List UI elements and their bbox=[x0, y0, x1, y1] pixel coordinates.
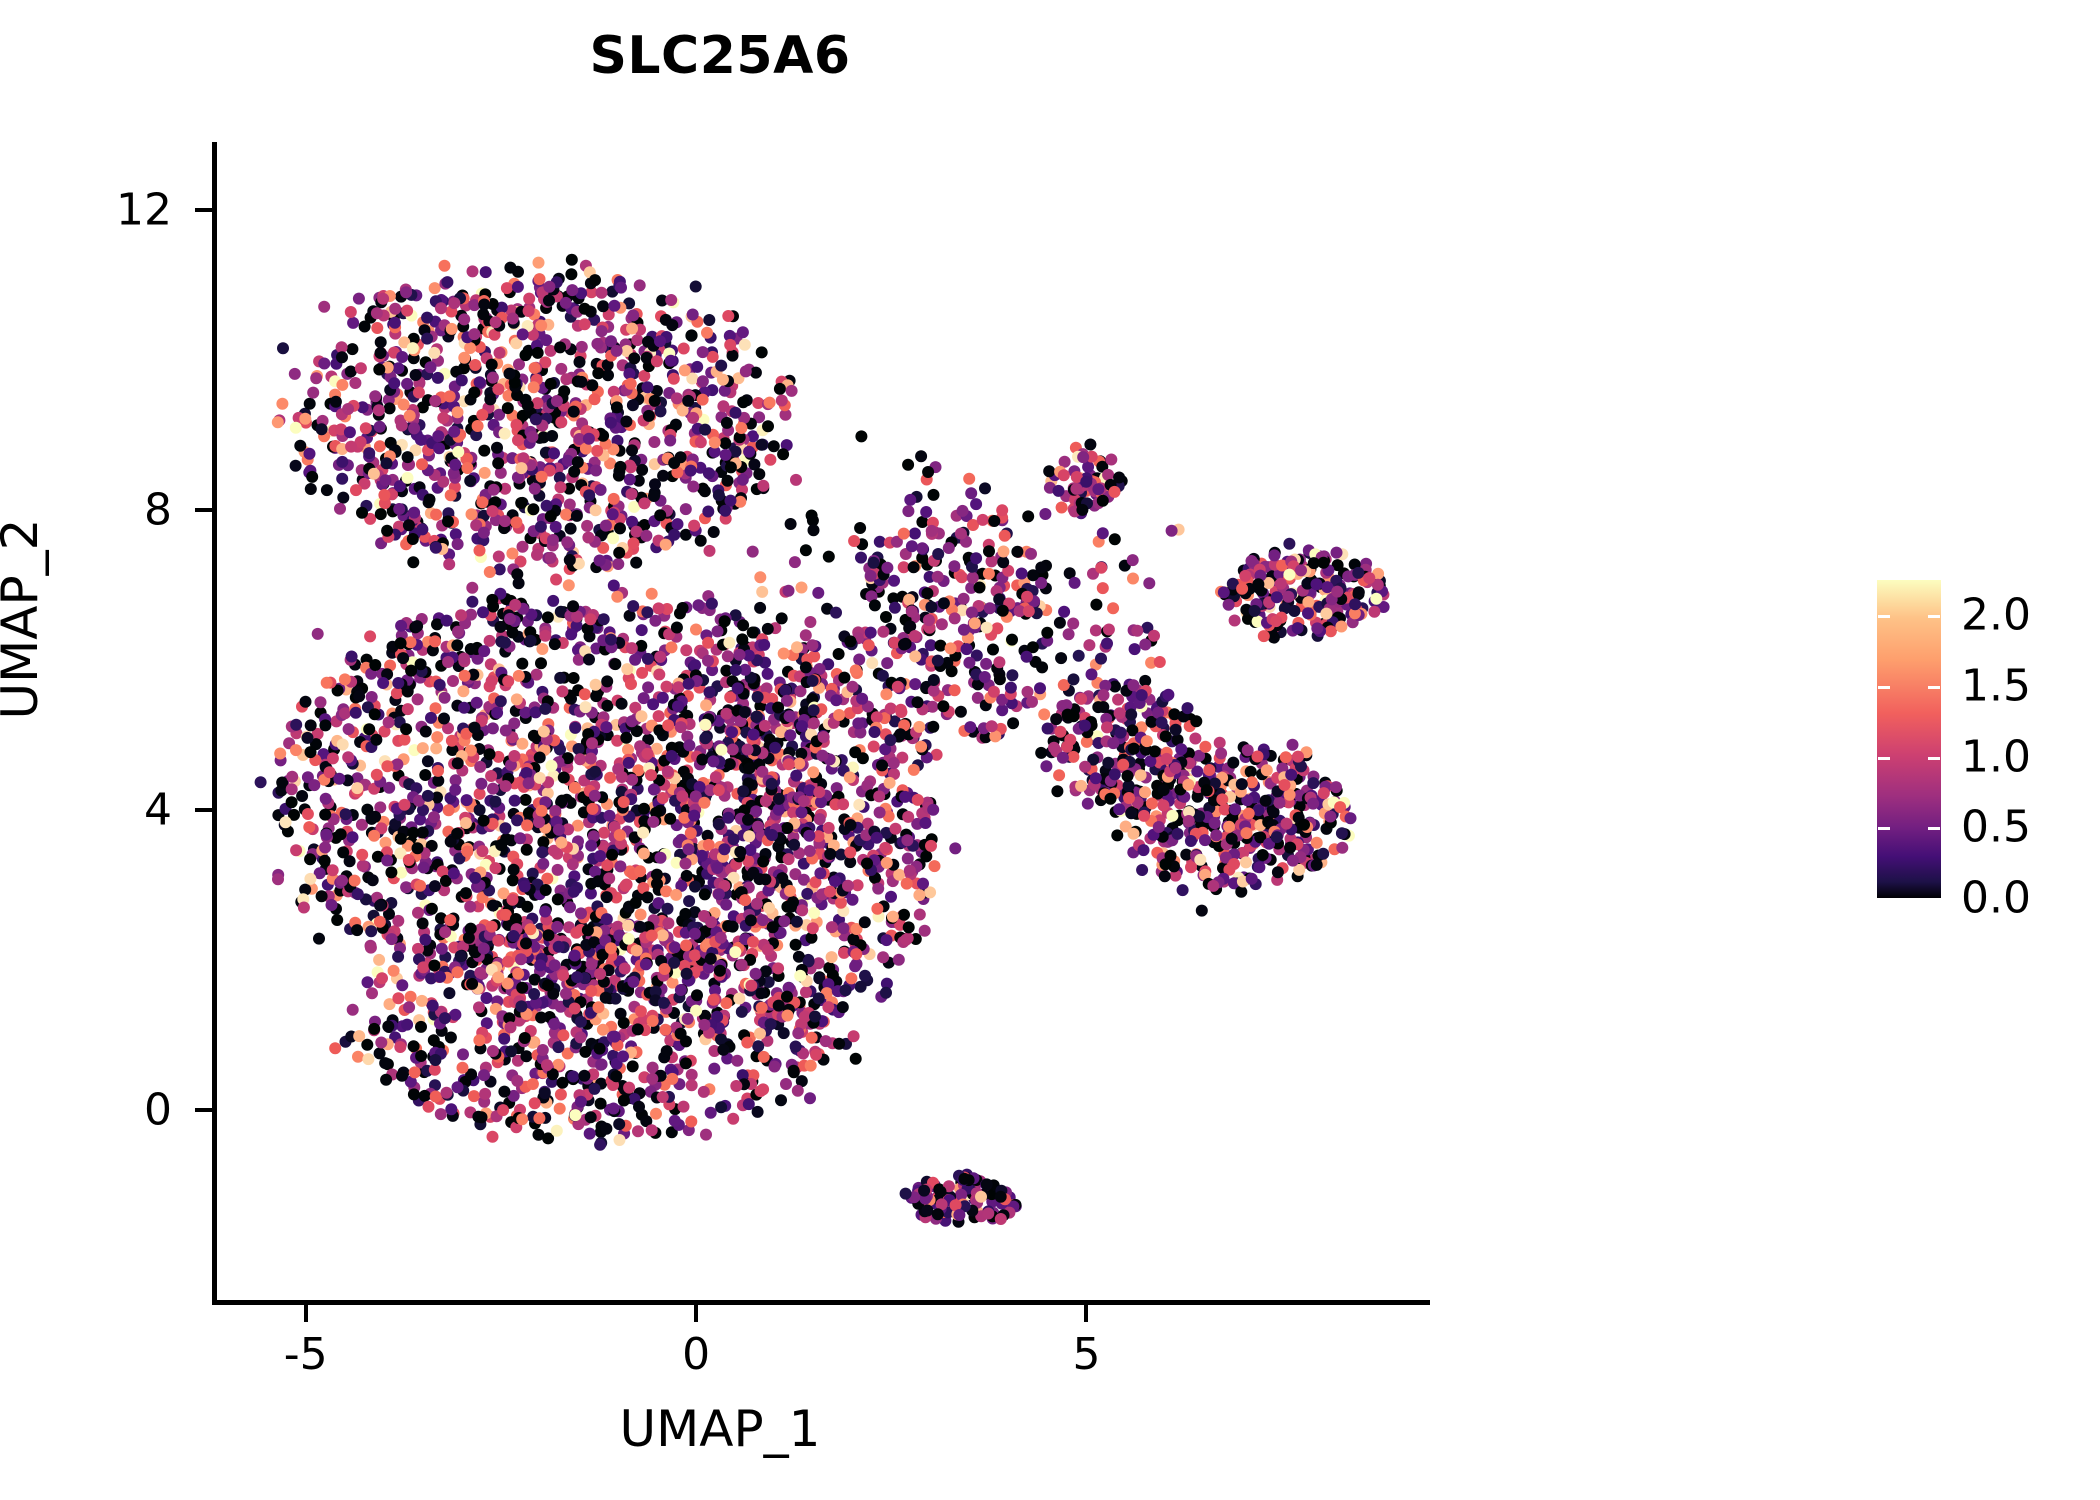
scatter-point bbox=[579, 688, 591, 700]
scatter-point bbox=[678, 343, 690, 355]
scatter-point bbox=[615, 282, 627, 294]
scatter-point bbox=[689, 928, 701, 940]
scatter-point bbox=[513, 577, 525, 589]
scatter-point bbox=[1075, 693, 1087, 705]
scatter-point bbox=[715, 360, 727, 372]
scatter-point bbox=[623, 1082, 635, 1094]
scatter-point bbox=[474, 761, 486, 773]
scatter-point bbox=[904, 494, 916, 506]
scatter-point bbox=[965, 487, 977, 499]
scatter-point bbox=[583, 489, 595, 501]
scatter-point bbox=[966, 607, 978, 619]
scatter-point bbox=[506, 548, 518, 560]
scatter-point bbox=[1136, 864, 1148, 876]
scatter-point bbox=[1235, 886, 1247, 898]
scatter-point bbox=[869, 726, 881, 738]
scatter-point bbox=[680, 503, 692, 515]
scatter-point bbox=[1102, 757, 1114, 769]
scatter-point bbox=[844, 846, 856, 858]
scatter-point bbox=[955, 706, 967, 718]
scatter-point bbox=[697, 346, 709, 358]
scatter-point bbox=[725, 495, 737, 507]
scatter-point bbox=[775, 1094, 787, 1106]
scatter-point bbox=[421, 312, 433, 324]
scatter-point bbox=[806, 1032, 818, 1044]
scatter-point bbox=[425, 361, 437, 373]
scatter-point bbox=[556, 685, 568, 697]
scatter-point bbox=[389, 317, 401, 329]
scatter-point bbox=[510, 516, 522, 528]
scatter-point bbox=[547, 595, 559, 607]
scatter-point bbox=[560, 373, 572, 385]
scatter-point bbox=[1311, 837, 1323, 849]
scatter-point bbox=[286, 771, 298, 783]
scatter-point bbox=[457, 1062, 469, 1074]
scatter-point bbox=[820, 1035, 832, 1047]
scatter-point bbox=[680, 644, 692, 656]
scatter-point bbox=[352, 1051, 364, 1063]
scatter-point bbox=[915, 450, 927, 462]
scatter-point bbox=[357, 860, 369, 872]
scatter-point bbox=[499, 515, 511, 527]
scatter-point bbox=[1056, 502, 1068, 514]
scatter-point bbox=[785, 518, 797, 530]
scatter-point bbox=[435, 302, 447, 314]
scatter-point bbox=[711, 862, 723, 874]
scatter-point bbox=[487, 900, 499, 912]
scatter-point bbox=[719, 505, 731, 517]
scatter-point bbox=[898, 909, 910, 921]
scatter-point bbox=[1182, 779, 1194, 791]
scatter-point bbox=[402, 472, 414, 484]
scatter-point bbox=[362, 976, 374, 988]
scatter-point bbox=[854, 522, 866, 534]
y-tick-label: 12 bbox=[116, 184, 172, 235]
scatter-point bbox=[793, 758, 805, 770]
scatter-point bbox=[537, 858, 549, 870]
scatter-point bbox=[743, 830, 755, 842]
scatter-point bbox=[1160, 730, 1172, 742]
scatter-point bbox=[932, 655, 944, 667]
scatter-point bbox=[555, 481, 567, 493]
scatter-point bbox=[568, 672, 580, 684]
scatter-point bbox=[529, 1097, 541, 1109]
scatter-point bbox=[984, 602, 996, 614]
scatter-point bbox=[1067, 751, 1079, 763]
x-tick-mark bbox=[694, 1305, 698, 1322]
scatter-point bbox=[665, 294, 677, 306]
scatter-point bbox=[804, 1092, 816, 1104]
scatter-point bbox=[552, 864, 564, 876]
scatter-point bbox=[1048, 742, 1060, 754]
scatter-point bbox=[986, 720, 998, 732]
scatter-point bbox=[837, 1001, 849, 1013]
scatter-point bbox=[478, 445, 490, 457]
scatter-point bbox=[1148, 630, 1160, 642]
scatter-point bbox=[788, 839, 800, 851]
scatter-point bbox=[754, 1028, 766, 1040]
scatter-point bbox=[600, 721, 612, 733]
scatter-point bbox=[1006, 669, 1018, 681]
scatter-point bbox=[699, 888, 711, 900]
scatter-point bbox=[1051, 785, 1063, 797]
scatter-point bbox=[393, 503, 405, 515]
scatter-point bbox=[590, 690, 602, 702]
scatter-point bbox=[584, 1128, 596, 1140]
scatter-point bbox=[736, 633, 748, 645]
scatter-point bbox=[277, 342, 289, 354]
scatter-point bbox=[874, 807, 886, 819]
scatter-point bbox=[996, 504, 1008, 516]
scatter-point bbox=[502, 402, 514, 414]
scatter-point bbox=[1055, 652, 1067, 664]
scatter-point bbox=[1083, 639, 1095, 651]
scatter-point bbox=[342, 751, 354, 763]
scatter-point bbox=[255, 776, 267, 788]
scatter-point bbox=[272, 416, 284, 428]
scatter-point bbox=[316, 890, 328, 902]
scatter-point bbox=[377, 677, 389, 689]
scatter-point bbox=[880, 611, 892, 623]
scatter-point bbox=[736, 1006, 748, 1018]
scatter-point bbox=[908, 561, 920, 573]
scatter-point bbox=[687, 481, 699, 493]
scatter-point bbox=[458, 653, 470, 665]
scatter-point bbox=[485, 770, 497, 782]
scatter-point bbox=[408, 422, 420, 434]
scatter-point bbox=[754, 571, 766, 583]
scatter-point bbox=[575, 1031, 587, 1043]
scatter-point bbox=[596, 1058, 608, 1070]
scatter-point bbox=[574, 753, 586, 765]
scatter-point bbox=[737, 474, 749, 486]
scatter-point bbox=[988, 686, 1000, 698]
scatter-point bbox=[800, 661, 812, 673]
scatter-point bbox=[626, 444, 638, 456]
y-tick-label: 8 bbox=[144, 484, 172, 535]
scatter-point bbox=[569, 722, 581, 734]
scatter-point bbox=[412, 693, 424, 705]
x-tick-label: 0 bbox=[682, 1329, 710, 1380]
scatter-point bbox=[520, 794, 532, 806]
scatter-point bbox=[558, 772, 570, 784]
x-tick-label: -5 bbox=[284, 1329, 328, 1380]
scatter-point bbox=[1053, 485, 1065, 497]
scatter-point bbox=[752, 1040, 764, 1052]
scatter-point bbox=[623, 757, 635, 769]
page-title: SLC25A6 bbox=[0, 26, 1440, 86]
scatter-point bbox=[916, 542, 928, 554]
scatter-point bbox=[522, 400, 534, 412]
scatter-point bbox=[877, 951, 889, 963]
scatter-point bbox=[1246, 776, 1258, 788]
scatter-point bbox=[762, 420, 774, 432]
scatter-point bbox=[715, 1101, 727, 1113]
scatter-point bbox=[720, 708, 732, 720]
scatter-point bbox=[469, 359, 481, 371]
scatter-point bbox=[445, 1103, 457, 1115]
scatter-point bbox=[583, 654, 595, 666]
scatter-point bbox=[1223, 821, 1235, 833]
scatter-point bbox=[849, 960, 861, 972]
scatter-point bbox=[430, 742, 442, 754]
scatter-point bbox=[545, 552, 557, 564]
scatter-point bbox=[448, 867, 460, 879]
scatter-point bbox=[762, 668, 774, 680]
scatter-point bbox=[1043, 465, 1055, 477]
scatter-point bbox=[451, 828, 463, 840]
scatter-point bbox=[700, 1129, 712, 1141]
scatter-point bbox=[373, 404, 385, 416]
scatter-point bbox=[546, 760, 558, 772]
scatter-point bbox=[1214, 737, 1226, 749]
scatter-point bbox=[449, 459, 461, 471]
scatter-point bbox=[1128, 828, 1140, 840]
scatter-point bbox=[865, 627, 877, 639]
scatter-point bbox=[921, 587, 933, 599]
scatter-point bbox=[405, 991, 417, 1003]
scatter-point bbox=[958, 1173, 970, 1185]
scatter-point bbox=[626, 488, 638, 500]
scatter-point bbox=[391, 758, 403, 770]
scatter-point bbox=[927, 721, 939, 733]
scatter-point bbox=[1034, 682, 1046, 694]
scatter-point bbox=[871, 711, 883, 723]
scatter-point bbox=[391, 687, 403, 699]
scatter-point bbox=[739, 894, 751, 906]
scatter-point bbox=[555, 363, 567, 375]
scatter-point bbox=[790, 1041, 802, 1053]
scatter-point bbox=[368, 830, 380, 842]
scatter-point bbox=[1257, 849, 1269, 861]
scatter-point bbox=[350, 484, 362, 496]
scatter-point bbox=[792, 1085, 804, 1097]
scatter-point bbox=[813, 992, 825, 1004]
scatter-point bbox=[996, 704, 1008, 716]
scatter-point bbox=[532, 347, 544, 359]
scatter-point bbox=[888, 575, 900, 587]
scatter-point bbox=[569, 950, 581, 962]
scatter-point bbox=[502, 675, 514, 687]
scatter-point bbox=[347, 831, 359, 843]
scatter-point bbox=[569, 1003, 581, 1015]
scatter-point bbox=[439, 260, 451, 272]
scatter-point bbox=[1061, 741, 1073, 753]
scatter-point bbox=[657, 792, 669, 804]
scatter-point bbox=[429, 282, 441, 294]
scatter-point bbox=[421, 333, 433, 345]
scatter-point bbox=[901, 878, 913, 890]
scatter-point bbox=[710, 771, 722, 783]
scatter-point bbox=[902, 811, 914, 823]
scatter-point bbox=[320, 829, 332, 841]
scatter-point bbox=[706, 598, 718, 610]
scatter-point bbox=[1101, 721, 1113, 733]
scatter-point bbox=[334, 503, 346, 515]
scatter-point bbox=[704, 686, 716, 698]
scatter-point bbox=[627, 600, 639, 612]
scatter-point bbox=[451, 639, 463, 651]
scatter-point bbox=[326, 899, 338, 911]
scatter-point bbox=[1006, 634, 1018, 646]
scatter-point bbox=[468, 328, 480, 340]
scatter-point bbox=[735, 422, 747, 434]
scatter-point bbox=[1077, 451, 1089, 463]
scatter-point bbox=[318, 358, 330, 370]
scatter-point bbox=[855, 430, 867, 442]
scatter-point bbox=[837, 922, 849, 934]
scatter-point bbox=[661, 681, 673, 693]
scatter-point bbox=[349, 875, 361, 887]
scatter-point bbox=[1022, 510, 1034, 522]
scatter-point bbox=[662, 766, 674, 778]
scatter-point bbox=[590, 465, 602, 477]
scatter-point bbox=[764, 454, 776, 466]
scatter-point bbox=[791, 641, 803, 653]
scatter-point bbox=[350, 707, 362, 719]
scatter-point bbox=[703, 314, 715, 326]
scatter-point bbox=[346, 343, 358, 355]
scatter-point bbox=[564, 901, 576, 913]
scatter-point bbox=[1129, 643, 1141, 655]
scatter-point bbox=[635, 1005, 647, 1017]
scatter-point bbox=[876, 759, 888, 771]
scatter-point bbox=[439, 1012, 451, 1024]
scatter-point bbox=[520, 349, 532, 361]
scatter-point bbox=[926, 525, 938, 537]
scatter-point bbox=[426, 903, 438, 915]
scatter-point bbox=[634, 279, 646, 291]
scatter-point bbox=[447, 675, 459, 687]
scatter-point bbox=[1058, 606, 1070, 618]
scatter-point bbox=[1245, 766, 1257, 778]
scatter-point bbox=[747, 627, 759, 639]
scatter-point bbox=[633, 1101, 645, 1113]
scatter-point bbox=[349, 377, 361, 389]
scatter-point bbox=[636, 624, 648, 636]
scatter-point bbox=[1194, 854, 1206, 866]
scatter-point bbox=[627, 309, 639, 321]
scatter-point bbox=[499, 822, 511, 834]
y-tick-label: 4 bbox=[144, 784, 172, 835]
scatter-point bbox=[1349, 598, 1361, 610]
scatter-point bbox=[885, 703, 897, 715]
scatter-point bbox=[1189, 733, 1201, 745]
scatter-point bbox=[790, 939, 802, 951]
scatter-point bbox=[1058, 469, 1070, 481]
scatter-point bbox=[392, 992, 404, 1004]
scatter-point bbox=[1223, 599, 1235, 611]
scatter-point bbox=[286, 783, 298, 795]
scatter-point bbox=[812, 587, 824, 599]
scatter-point bbox=[808, 524, 820, 536]
scatter-point bbox=[747, 867, 759, 879]
scatter-point bbox=[408, 1088, 420, 1100]
scatter-point bbox=[1112, 694, 1124, 706]
scatter-point bbox=[912, 794, 924, 806]
scatter-point bbox=[487, 722, 499, 734]
scatter-point bbox=[304, 853, 316, 865]
scatter-point bbox=[800, 986, 812, 998]
scatter-point bbox=[366, 987, 378, 999]
scatter-point bbox=[441, 276, 453, 288]
scatter-point bbox=[649, 395, 661, 407]
scatter-point bbox=[566, 254, 578, 266]
scatter-point bbox=[964, 721, 976, 733]
scatter-point bbox=[657, 929, 669, 941]
scatter-point bbox=[804, 616, 816, 628]
y-tick-mark bbox=[195, 1108, 212, 1112]
scatter-point bbox=[1135, 769, 1147, 781]
scatter-point bbox=[790, 474, 802, 486]
scatter-point bbox=[724, 758, 736, 770]
scatter-point bbox=[455, 609, 467, 621]
scatter-point bbox=[600, 1123, 612, 1135]
scatter-point bbox=[902, 459, 914, 471]
scatter-point bbox=[1185, 835, 1197, 847]
scatter-point bbox=[319, 842, 331, 854]
scatter-point bbox=[712, 625, 724, 637]
scatter-point bbox=[708, 1063, 720, 1075]
scatter-point bbox=[416, 995, 428, 1007]
scatter-point bbox=[726, 726, 738, 738]
scatter-point bbox=[589, 393, 601, 405]
scatter-point bbox=[1038, 708, 1050, 720]
scatter-point bbox=[790, 770, 802, 782]
scatter-point bbox=[1175, 743, 1187, 755]
scatter-point bbox=[396, 979, 408, 991]
scatter-point bbox=[569, 782, 581, 794]
scatter-point bbox=[395, 637, 407, 649]
scatter-point bbox=[579, 318, 591, 330]
scatter-point bbox=[416, 458, 428, 470]
scatter-point bbox=[893, 954, 905, 966]
scatter-point bbox=[1330, 781, 1342, 793]
scatter-point bbox=[643, 410, 655, 422]
scatter-point bbox=[1107, 602, 1119, 614]
scatter-point bbox=[443, 558, 455, 570]
scatter-point bbox=[634, 921, 646, 933]
scatter-point bbox=[806, 639, 818, 651]
scatter-point bbox=[446, 735, 458, 747]
scatter-point bbox=[466, 596, 478, 608]
scatter-point bbox=[464, 342, 476, 354]
scatter-point bbox=[417, 917, 429, 929]
scatter-point bbox=[494, 347, 506, 359]
scatter-point bbox=[903, 921, 915, 933]
scatter-point bbox=[901, 834, 913, 846]
scatter-point bbox=[1320, 608, 1332, 620]
scatter-point bbox=[963, 473, 975, 485]
scatter-point bbox=[549, 805, 561, 817]
scatter-point bbox=[533, 257, 545, 269]
scatter-point bbox=[401, 1019, 413, 1031]
scatter-point bbox=[449, 1009, 461, 1021]
scatter-point bbox=[272, 873, 284, 885]
scatter-point bbox=[504, 262, 516, 274]
scatter-point bbox=[698, 1086, 710, 1098]
scatter-point bbox=[563, 579, 575, 591]
scatter-point bbox=[1063, 628, 1075, 640]
scatter-point bbox=[1042, 723, 1054, 735]
scatter-point bbox=[919, 925, 931, 937]
scatter-point bbox=[754, 602, 766, 614]
scatter-point bbox=[813, 957, 825, 969]
scatter-point bbox=[733, 993, 745, 1005]
scatter-point bbox=[436, 943, 448, 955]
scatter-point bbox=[829, 875, 841, 887]
scatter-point bbox=[329, 1042, 341, 1054]
